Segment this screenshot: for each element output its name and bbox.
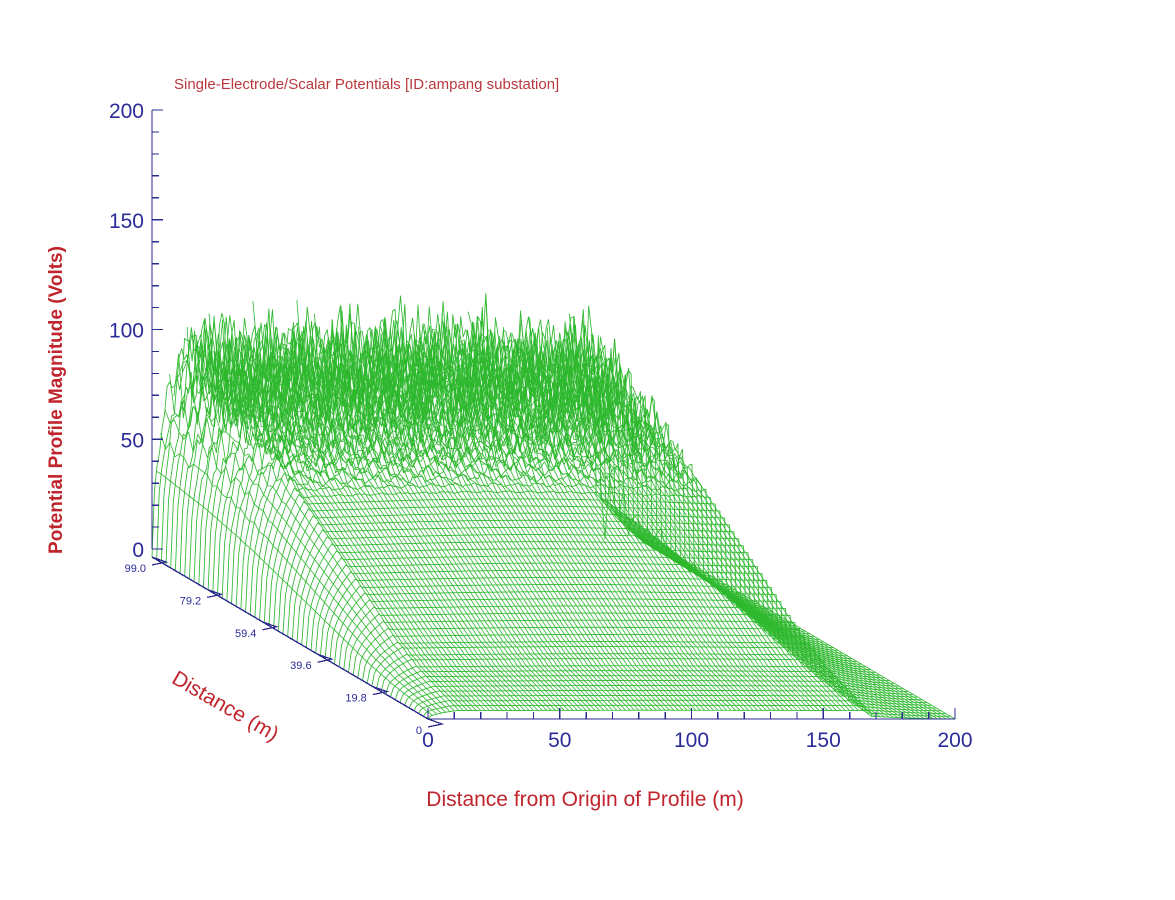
z-axis-tick [428,719,442,727]
z-axis-title: Distance (m) [168,667,283,746]
waterfall-3d-plot: Single-Electrode/Scalar Potentials [ID:a… [0,0,1175,900]
x-axis-tick-label: 150 [806,729,841,752]
y-axis-tick-label: 50 [121,429,144,452]
mesh-surface [152,293,955,719]
z-axis-ticks: 019.839.659.479.299.0 [125,557,442,737]
x-axis-title: Distance from Origin of Profile (m) [426,788,743,811]
y-axis-tick-label: 100 [109,320,144,343]
z-axis-tick-label: 99.0 [125,563,146,575]
z-axis-tick-label: 39.6 [290,660,311,672]
z-axis-tick-label: 79.2 [180,595,201,607]
mesh-cross-line [657,550,933,718]
z-axis-tick-label: 59.4 [235,628,256,640]
chart-canvas: Single-Electrode/Scalar Potentials [ID:a… [0,0,1175,900]
z-axis-tick-label: 0 [416,725,422,737]
x-axis-tick-label: 0 [422,729,434,752]
y-axis-ticks: 050100150200 [109,100,163,562]
y-axis-tick-label: 0 [132,539,144,562]
y-axis-title: Potential Profile Magnitude (Volts) [46,246,67,554]
z-axis-tick-label: 19.8 [345,693,366,705]
y-axis-tick-label: 150 [109,210,144,233]
y-axis-tick-label: 200 [109,100,144,123]
x-axis-tick-label: 50 [548,729,571,752]
x-axis-tick-label: 200 [937,729,972,752]
x-axis-tick-label: 100 [674,729,709,752]
chart-title: Single-Electrode/Scalar Potentials [ID:a… [174,76,559,93]
